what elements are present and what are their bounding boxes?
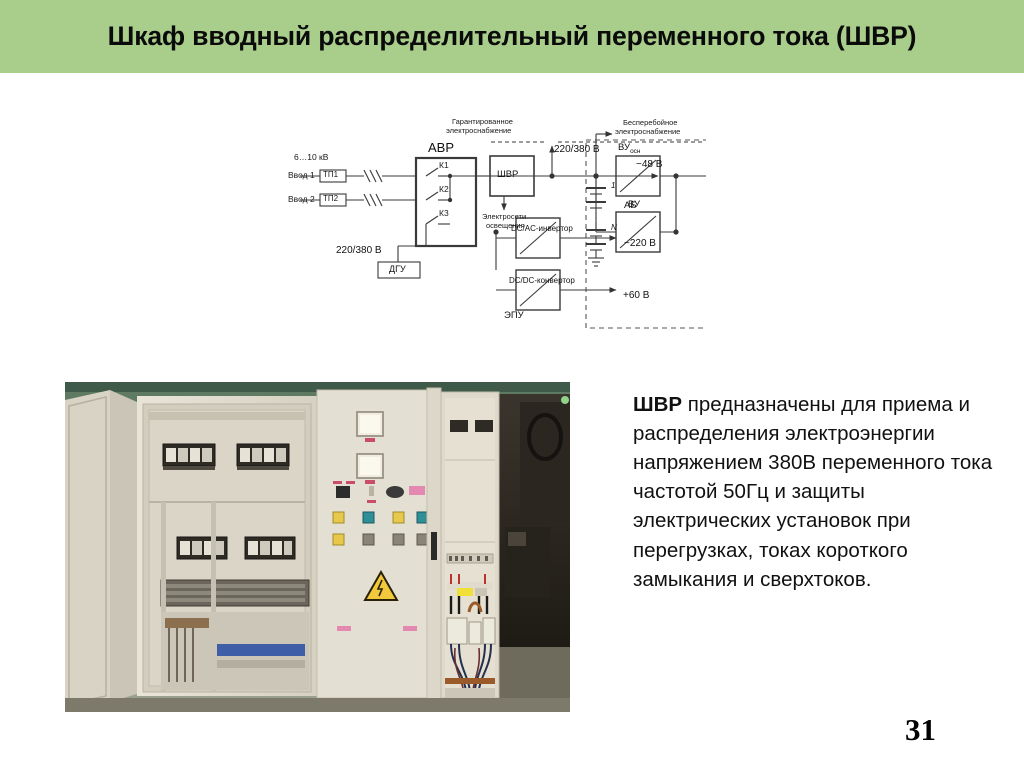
diagram-label-inverter: DC/AC-инвертор bbox=[511, 224, 573, 233]
diagram-label-battery: АБ bbox=[624, 200, 637, 211]
diagram-label-lighting-net-line1: Электросети bbox=[482, 212, 526, 221]
description-lead: ШВР bbox=[633, 393, 682, 416]
diagram-label-input2: Ввод 2 bbox=[288, 194, 315, 204]
diagram-label-shvr: ШВР bbox=[497, 169, 518, 180]
diagram-label-k1: К1 bbox=[439, 160, 449, 170]
slide-root: Шкаф вводный распределительный переменно… bbox=[0, 0, 1024, 767]
description-paragraph: ШВР предназначены для приема и распредел… bbox=[633, 390, 1003, 594]
diagram-label-converter: DC/DC-конвертор bbox=[509, 276, 575, 285]
page-number: 31 bbox=[905, 712, 936, 748]
diagram-label-epu: ЭПУ bbox=[504, 310, 524, 321]
diagram-label-battery-first: 1 bbox=[611, 181, 615, 190]
diagram-label-guaranteed-line2: электроснабжение bbox=[446, 126, 511, 135]
description-body: предназначены для приема и распределения… bbox=[633, 393, 992, 591]
diagram-label-inverter-output: ~220 В bbox=[624, 238, 656, 249]
diagram-label-vu-main: ВУосн bbox=[618, 142, 641, 155]
diagram-label-avr: АВР bbox=[428, 140, 454, 155]
diagram-label-hv-voltage: 6…10 кВ bbox=[294, 152, 328, 162]
vu-main-text: ВУ bbox=[618, 142, 630, 153]
diagram-label-minus48: −48 В bbox=[636, 159, 662, 170]
diagram-label-converter-output: +60 В bbox=[623, 290, 649, 301]
power-supply-block-diagram: 6…10 кВ Ввод 1 Ввод 2 ТП1 ТП2 АВР К1 К2 … bbox=[286, 112, 706, 337]
vu-main-subscript: осн bbox=[630, 148, 640, 155]
diagram-label-battery-last: N bbox=[611, 223, 617, 232]
diagram-label-tp2: ТП2 bbox=[323, 194, 338, 203]
diagram-label-dgu: ДГУ bbox=[389, 264, 406, 274]
diagram-label-bus-voltage: 220/380 В bbox=[554, 144, 600, 155]
diagram-label-uninterrupted-line2: электроснабжение bbox=[615, 127, 680, 136]
shvr-cabinet-photograph bbox=[65, 382, 570, 712]
diagram-label-uninterrupted-line1: Бесперебойное bbox=[623, 118, 677, 127]
slide-header: Шкаф вводный распределительный переменно… bbox=[0, 0, 1024, 73]
diagram-label-tp1: ТП1 bbox=[323, 170, 338, 179]
diagram-label-input1: Ввод 1 bbox=[288, 170, 315, 180]
diagram-label-k3: К3 bbox=[439, 208, 449, 218]
diagram-label-k2: К2 bbox=[439, 184, 449, 194]
diagram-label-dgu-voltage: 220/380 В bbox=[336, 245, 382, 256]
diagram-label-guaranteed-line1: Гарантированное bbox=[452, 117, 513, 126]
page-title: Шкаф вводный распределительный переменно… bbox=[29, 21, 994, 51]
